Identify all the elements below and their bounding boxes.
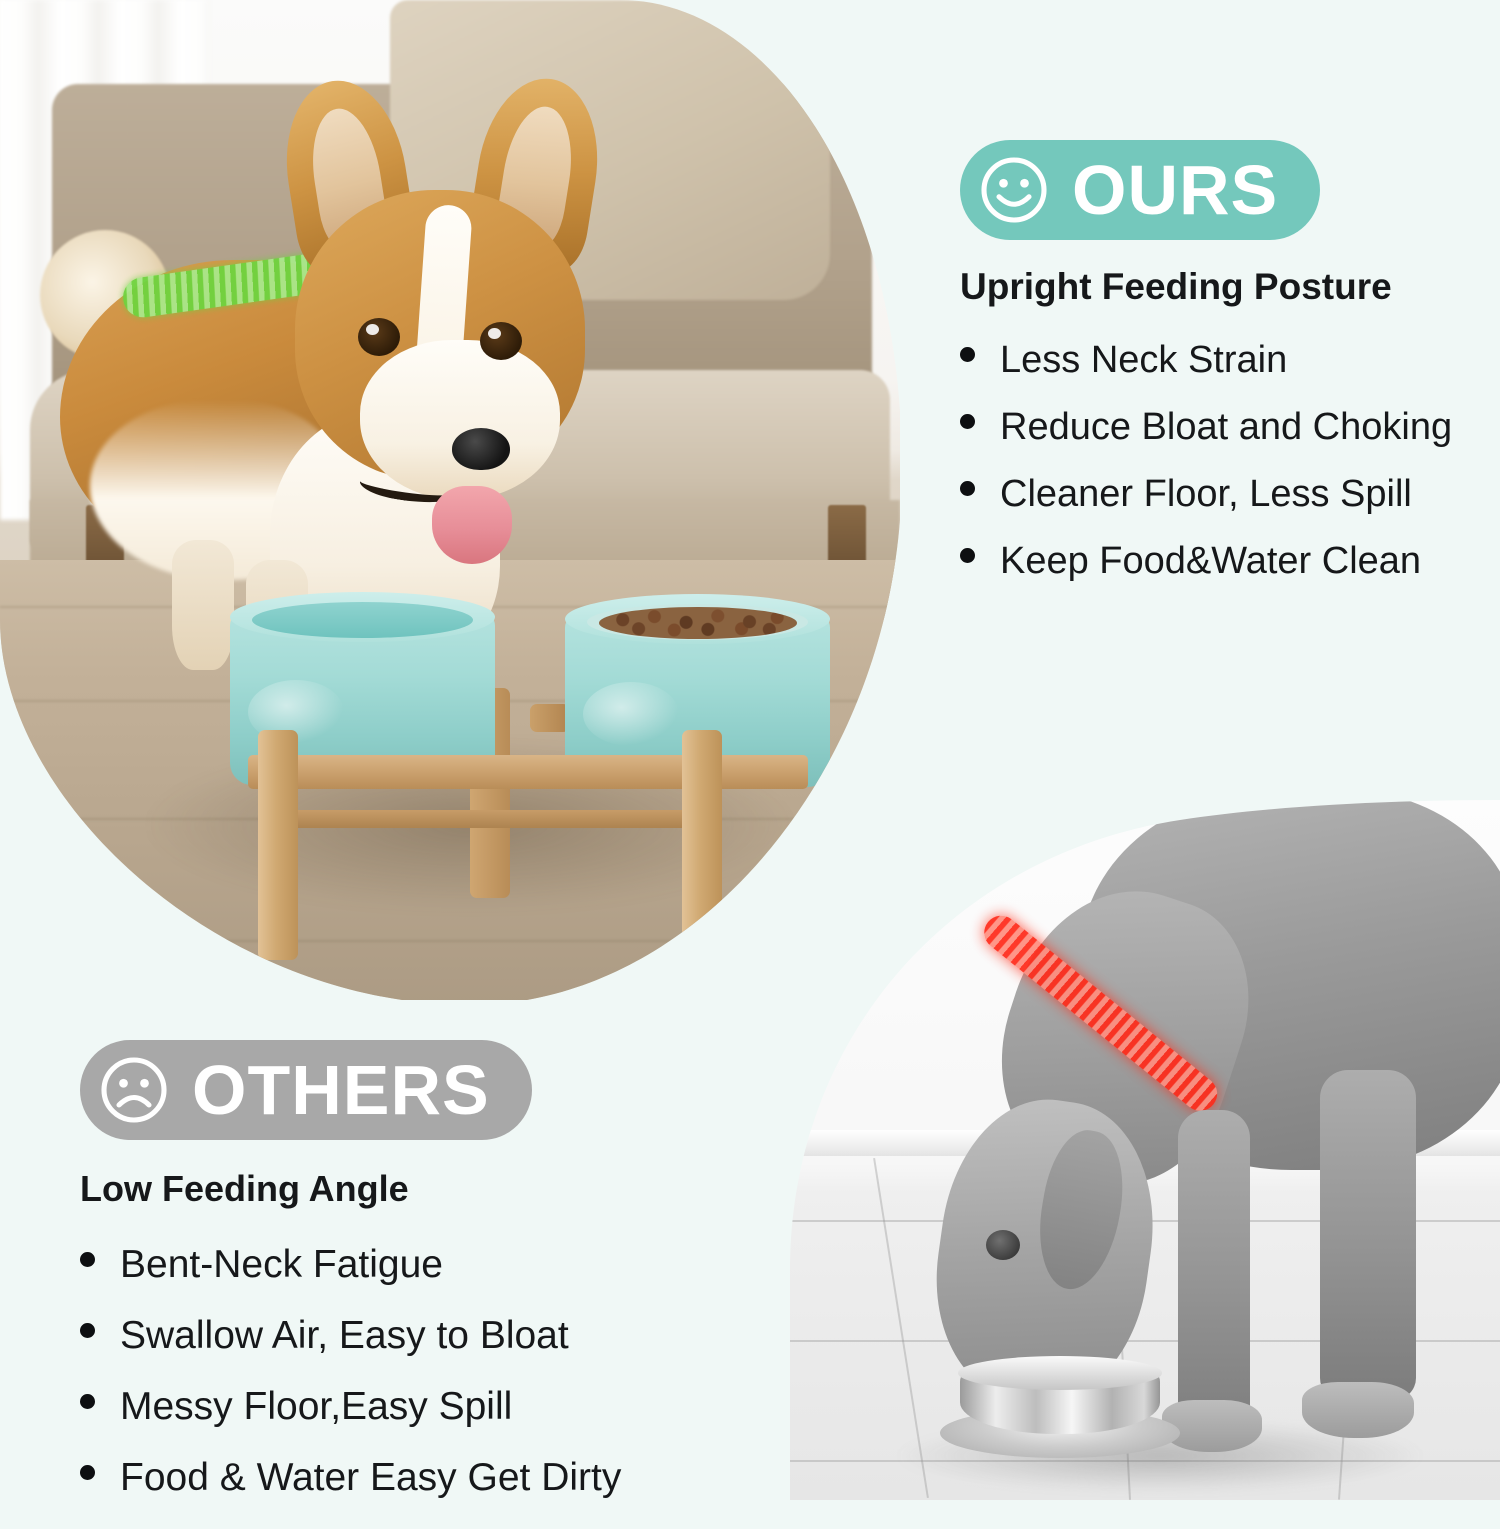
list-item: Reduce Bloat and Choking [960,408,1480,446]
grayscale-dog-floor-bowl-photo [790,800,1500,1500]
bullet-dot-icon [960,548,975,563]
bullet-dot-icon [80,1252,95,1267]
ours-badge-label: OURS [1072,155,1278,225]
bullet-dot-icon [960,481,975,496]
others-bullet-text: Food & Water Easy Get Dirty [120,1458,621,1497]
dog-hind-leg [1320,1070,1416,1400]
bullet-dot-icon [960,414,975,429]
dog-front-leg [1178,1110,1250,1440]
ours-bullet-text: Keep Food&Water Clean [1000,542,1421,580]
list-item: Swallow Air, Easy to Bloat [80,1316,680,1355]
stand-leg-front-right [682,730,722,962]
others-bullet-text: Bent-Neck Fatigue [120,1245,443,1284]
smiley-face-icon [978,154,1050,226]
ours-badge: OURS [960,140,1320,240]
others-badge-label: OTHERS [192,1055,490,1125]
list-item: Less Neck Strain [960,341,1480,379]
corgi-eye-right [480,322,522,360]
ours-panel: OURS Upright Feeding Posture Less Neck S… [960,140,1480,609]
bullet-dot-icon [80,1323,95,1338]
list-item: Food & Water Easy Get Dirty [80,1458,680,1497]
list-item: Bent-Neck Fatigue [80,1245,680,1284]
stand-top-rail [248,755,808,789]
ours-bullet-text: Cleaner Floor, Less Spill [1000,475,1412,513]
list-item: Messy Floor,Easy Spill [80,1387,680,1426]
ours-subtitle: Upright Feeding Posture [960,266,1480,309]
others-badge: OTHERS [80,1040,532,1140]
stainless-steel-floor-bowl [940,1360,1180,1458]
dog-paw [1302,1382,1414,1438]
bullet-dot-icon [80,1394,95,1409]
others-bullet-list: Bent-Neck Fatigue Swallow Air, Easy to B… [80,1245,680,1497]
ours-bullet-text: Reduce Bloat and Choking [1000,408,1452,446]
elevated-bowl-stand [230,600,830,990]
others-subtitle: Low Feeding Angle [80,1168,680,1209]
corgi-eye-left [358,318,400,356]
corgi-nose [452,428,510,470]
bowl-kibble [587,604,808,640]
others-panel: OTHERS Low Feeding Angle Bent-Neck Fatig… [80,1040,680,1529]
bowl-water [252,602,473,638]
list-item: Cleaner Floor, Less Spill [960,475,1480,513]
bullet-dot-icon [80,1465,95,1480]
ours-bullet-list: Less Neck Strain Reduce Bloat and Chokin… [960,341,1480,580]
ours-bullet-text: Less Neck Strain [1000,341,1287,379]
others-bullet-text: Messy Floor,Easy Spill [120,1387,512,1426]
stand-leg-back-right [530,704,570,732]
corgi-tongue [432,486,512,564]
others-bullet-text: Swallow Air, Easy to Bloat [120,1316,569,1355]
dog-eye [986,1230,1020,1260]
corgi-front-leg [172,540,234,670]
stand-crossbar [278,810,698,828]
corgi-with-elevated-bowls-photo [0,0,900,1000]
sofa-leg [828,505,866,565]
list-item: Keep Food&Water Clean [960,542,1480,580]
stand-leg-front-left [258,730,298,960]
frowning-face-icon [98,1054,170,1126]
infographic-canvas: OURS Upright Feeding Posture Less Neck S… [0,0,1500,1500]
bullet-dot-icon [960,347,975,362]
